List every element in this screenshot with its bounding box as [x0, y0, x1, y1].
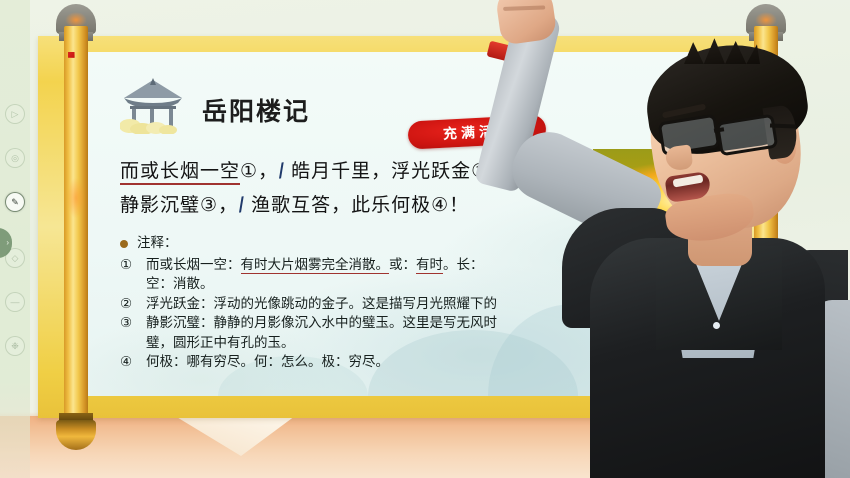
- passage-mark-3: ③: [200, 194, 218, 216]
- page-title: 岳阳楼记: [202, 92, 310, 128]
- glasses-temple: [770, 124, 796, 129]
- passage-punct-1: ，: [258, 160, 278, 182]
- note-term: 浮光跃金：: [146, 296, 214, 312]
- bullet-icon: [120, 240, 128, 248]
- passage-phrase-underlined: 而或长烟一空: [120, 160, 240, 185]
- passage-phrase-1b: 皓月千里，浮光跃金: [291, 160, 471, 182]
- note-gloss: 有时大片烟雾完全消散。: [241, 257, 390, 274]
- note-number: ②: [120, 295, 146, 315]
- note-gloss: 哪有穷尽。何：怎么。极：穷尽。: [187, 354, 390, 370]
- grid-icon[interactable]: ❉: [5, 336, 25, 356]
- roller-rod: [64, 26, 88, 426]
- rail-expand-label: ›: [0, 228, 12, 247]
- presenter: [470, 0, 850, 478]
- pause-slash-mark: /: [276, 152, 294, 187]
- passage-punct-4: ！: [449, 194, 469, 216]
- pause-slash-mark: /: [236, 186, 254, 221]
- note-sub-value: 有时: [416, 257, 443, 274]
- line-icon[interactable]: —: [5, 292, 25, 312]
- shirt-button: [713, 322, 720, 329]
- passage-phrase-2a: 静影沉璧: [120, 194, 200, 216]
- scroll-roller-left: [64, 4, 88, 450]
- passage-punct-3: ，: [218, 194, 238, 216]
- passage-mark-1: ①: [240, 160, 258, 182]
- note-sub-key: 或：: [389, 257, 416, 273]
- passage-phrase-2b: 渔歌互答，此乐何极: [251, 194, 431, 216]
- pen-icon[interactable]: ✎: [5, 192, 25, 212]
- note-number: ④: [120, 353, 146, 373]
- note-number: ①: [120, 256, 146, 276]
- note-number: ③: [120, 314, 146, 334]
- note-term: 静影沉璧：: [146, 315, 214, 331]
- note-gloss: 静静的月影像沉入水中的璧玉。这里是写无风时: [214, 315, 498, 331]
- shapes-icon[interactable]: ◎: [5, 148, 25, 168]
- pointer-icon[interactable]: ▷: [5, 104, 25, 124]
- lesson-title-row: 岳阳楼记: [120, 76, 310, 134]
- vest-logo: [738, 352, 772, 365]
- note-term: 而或长烟一空：: [146, 257, 241, 273]
- slide-canvas: ▷ ◎ ✎ ◇ — ❉ ›: [0, 0, 850, 478]
- note-gloss: 浮动的光像跳动的金子。这是描写月光照耀下的: [214, 296, 498, 312]
- notes-heading: 注释：: [137, 234, 178, 254]
- note-term: 何极：: [146, 354, 187, 370]
- passage-mark-4: ④: [431, 194, 449, 216]
- pavilion-icon: [120, 76, 186, 134]
